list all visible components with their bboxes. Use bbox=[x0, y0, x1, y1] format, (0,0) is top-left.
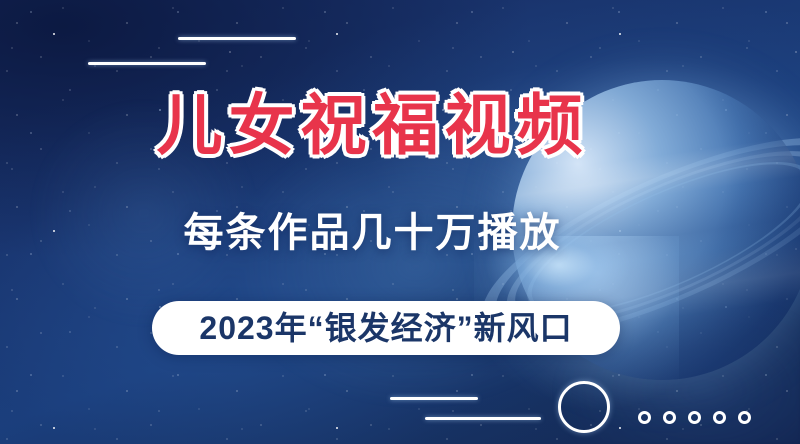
tagline-pill-label: 2023年“银发经济”新风口 bbox=[199, 312, 572, 344]
decor-dot-1 bbox=[638, 411, 651, 424]
page-subtitle: 每条作品几十万播放 bbox=[0, 213, 745, 253]
tagline-pill: 2023年“银发经济”新风口 bbox=[152, 301, 620, 355]
page-title: 儿女祝福视频 bbox=[0, 92, 745, 158]
decor-line-bottom-upper bbox=[390, 397, 478, 400]
decor-line-top-right bbox=[178, 37, 296, 40]
decor-circle-outline bbox=[558, 381, 610, 433]
decor-dot-2 bbox=[663, 411, 676, 424]
decor-line-bottom-lower bbox=[425, 417, 541, 420]
decor-dot-4 bbox=[713, 411, 726, 424]
decor-dot-row bbox=[638, 411, 751, 424]
decor-dot-3 bbox=[688, 411, 701, 424]
decor-dot-5 bbox=[738, 411, 751, 424]
decor-line-top-left bbox=[88, 62, 206, 65]
poster-canvas: 儿女祝福视频 每条作品几十万播放 2023年“银发经济”新风口 bbox=[0, 0, 800, 444]
